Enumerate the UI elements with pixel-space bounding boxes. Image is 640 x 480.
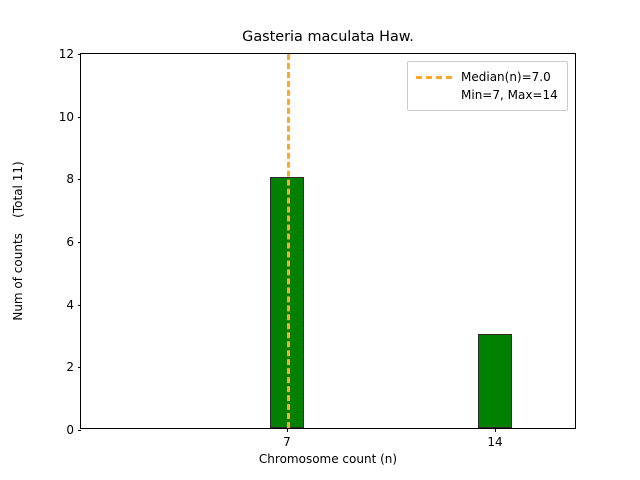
y-tick-label: 4: [66, 298, 74, 312]
x-tick-mark: [495, 428, 496, 432]
y-tick-mark: [78, 179, 82, 180]
blank-swatch-icon: [416, 94, 452, 97]
y-tick-label: 6: [66, 235, 74, 249]
matplotlib-figure: Gasteria maculata Haw. Num of counts (To…: [0, 0, 640, 480]
median-line: [287, 54, 290, 428]
plot-area: 0 2 4 6 8 10 12 7: [80, 53, 576, 429]
y-tick-mark: [78, 242, 82, 243]
y-tick-mark: [78, 54, 82, 55]
y-tick-label: 2: [66, 360, 74, 374]
x-axis-label: Chromosome count (n): [80, 452, 576, 466]
y-tick-label: 10: [59, 110, 74, 124]
y-tick-mark: [78, 367, 82, 368]
legend-label: Median(n)=7.0: [461, 70, 551, 84]
dashed-line-icon: [416, 76, 452, 79]
y-tick-mark: [78, 117, 82, 118]
x-tick-mark: [287, 428, 288, 432]
y-axis-label-container: Num of counts (Total 11): [0, 53, 36, 429]
x-tick-label: 14: [487, 435, 502, 449]
legend-entry-median: Median(n)=7.0: [416, 68, 558, 86]
y-tick-label: 12: [59, 47, 74, 61]
y-tick-mark: [78, 305, 82, 306]
y-tick-mark: [78, 430, 82, 431]
y-tick-label: 8: [66, 172, 74, 186]
chart-legend: Median(n)=7.0 Min=7, Max=14: [407, 61, 568, 111]
chart-title: Gasteria maculata Haw.: [80, 29, 576, 46]
y-tick-label: 0: [66, 423, 74, 437]
legend-entry-minmax: Min=7, Max=14: [416, 86, 558, 104]
x-tick-label: 7: [283, 435, 291, 449]
legend-label: Min=7, Max=14: [461, 88, 558, 102]
bar-chromosome-14: [478, 334, 512, 428]
y-axis-label: Num of counts (Total 11): [11, 161, 25, 320]
